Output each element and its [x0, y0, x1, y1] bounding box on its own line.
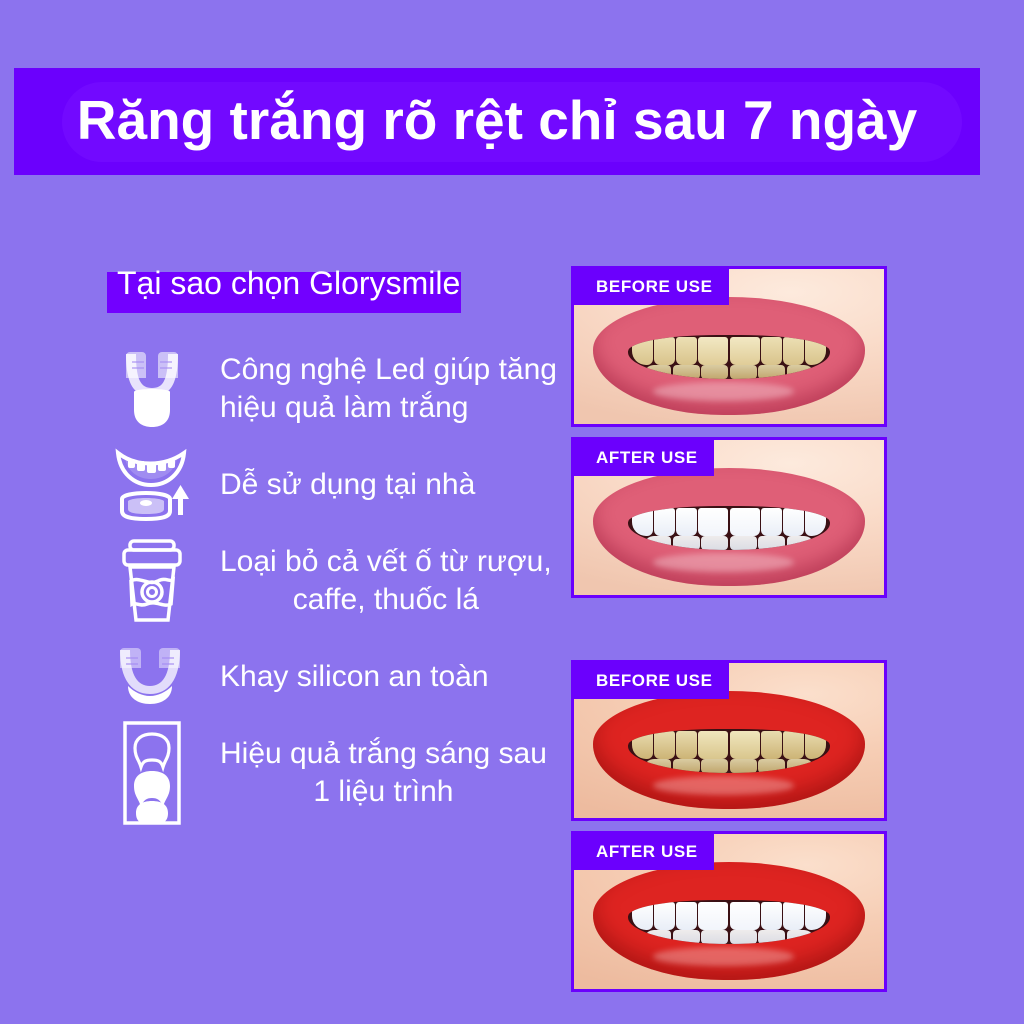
feature-item: Dễ sử dụng tại nhà [0, 437, 560, 533]
led-mouth-tray-icon [110, 343, 194, 435]
feature-line-2: caffe, thuốc lá [220, 581, 552, 619]
features-column: Tại sao chọn Glorysmile [0, 255, 560, 821]
feature-line-1: Hiệu quả trắng sáng sau [220, 737, 547, 770]
gallery-gap [571, 598, 891, 660]
subtitle-block: Tại sao chọn Glorysmile [107, 255, 560, 313]
photo-badge: BEFORE USE [574, 269, 729, 305]
feature-list: Công nghệ Led giúp tăng hiệu quả làm trắ… [0, 341, 560, 821]
photo-after-2: AFTER USE [571, 831, 887, 992]
feature-line-1: Khay silicon an toàn [220, 660, 489, 693]
feature-text: Loại bỏ cả vết ố từ rượu, caffe, thuốc l… [220, 543, 552, 620]
photo-before-2: BEFORE USE [571, 660, 887, 821]
feature-text: Khay silicon an toàn [220, 658, 489, 696]
feature-text: Hiệu quả trắng sáng sau 1 liệu trình [220, 735, 547, 812]
photo-badge: AFTER USE [574, 834, 714, 870]
mouth-tray-insert-icon [110, 439, 194, 531]
feature-item: Hiệu quả trắng sáng sau 1 liệu trình [0, 725, 560, 821]
photo-badge: BEFORE USE [574, 663, 729, 699]
feature-line-1: Công nghệ Led giúp tăng [220, 353, 557, 386]
teeth-chart-icon [110, 727, 194, 819]
feature-item: Loại bỏ cả vết ố từ rượu, caffe, thuốc l… [0, 533, 560, 629]
feature-text: Công nghệ Led giúp tăng hiệu quả làm trắ… [220, 351, 557, 428]
feature-item: Khay silicon an toàn [0, 629, 560, 725]
photo-after-1: AFTER USE [571, 437, 887, 598]
feature-item: Công nghệ Led giúp tăng hiệu quả làm trắ… [0, 341, 560, 437]
page-title: Răng trắng rõ rệt chỉ sau 7 ngày [14, 91, 980, 149]
feature-line-1: Loại bỏ cả vết ố từ rượu, [220, 545, 552, 578]
feature-text: Dễ sử dụng tại nhà [220, 466, 475, 504]
coffee-cup-icon [110, 535, 194, 627]
subtitle-text: Tại sao chọn Glorysmile [117, 265, 460, 302]
silicone-tray-icon [110, 631, 194, 723]
feature-line-2: 1 liệu trình [220, 773, 547, 811]
photo-badge: AFTER USE [574, 440, 714, 476]
title-banner: Răng trắng rõ rệt chỉ sau 7 ngày [14, 68, 980, 175]
feature-line-2: hiệu quả làm trắng [220, 389, 557, 427]
before-after-gallery: BEFORE USE AFTER US [571, 266, 891, 992]
feature-line-1: Dễ sử dụng tại nhà [220, 468, 475, 501]
photo-before-1: BEFORE USE [571, 266, 887, 427]
